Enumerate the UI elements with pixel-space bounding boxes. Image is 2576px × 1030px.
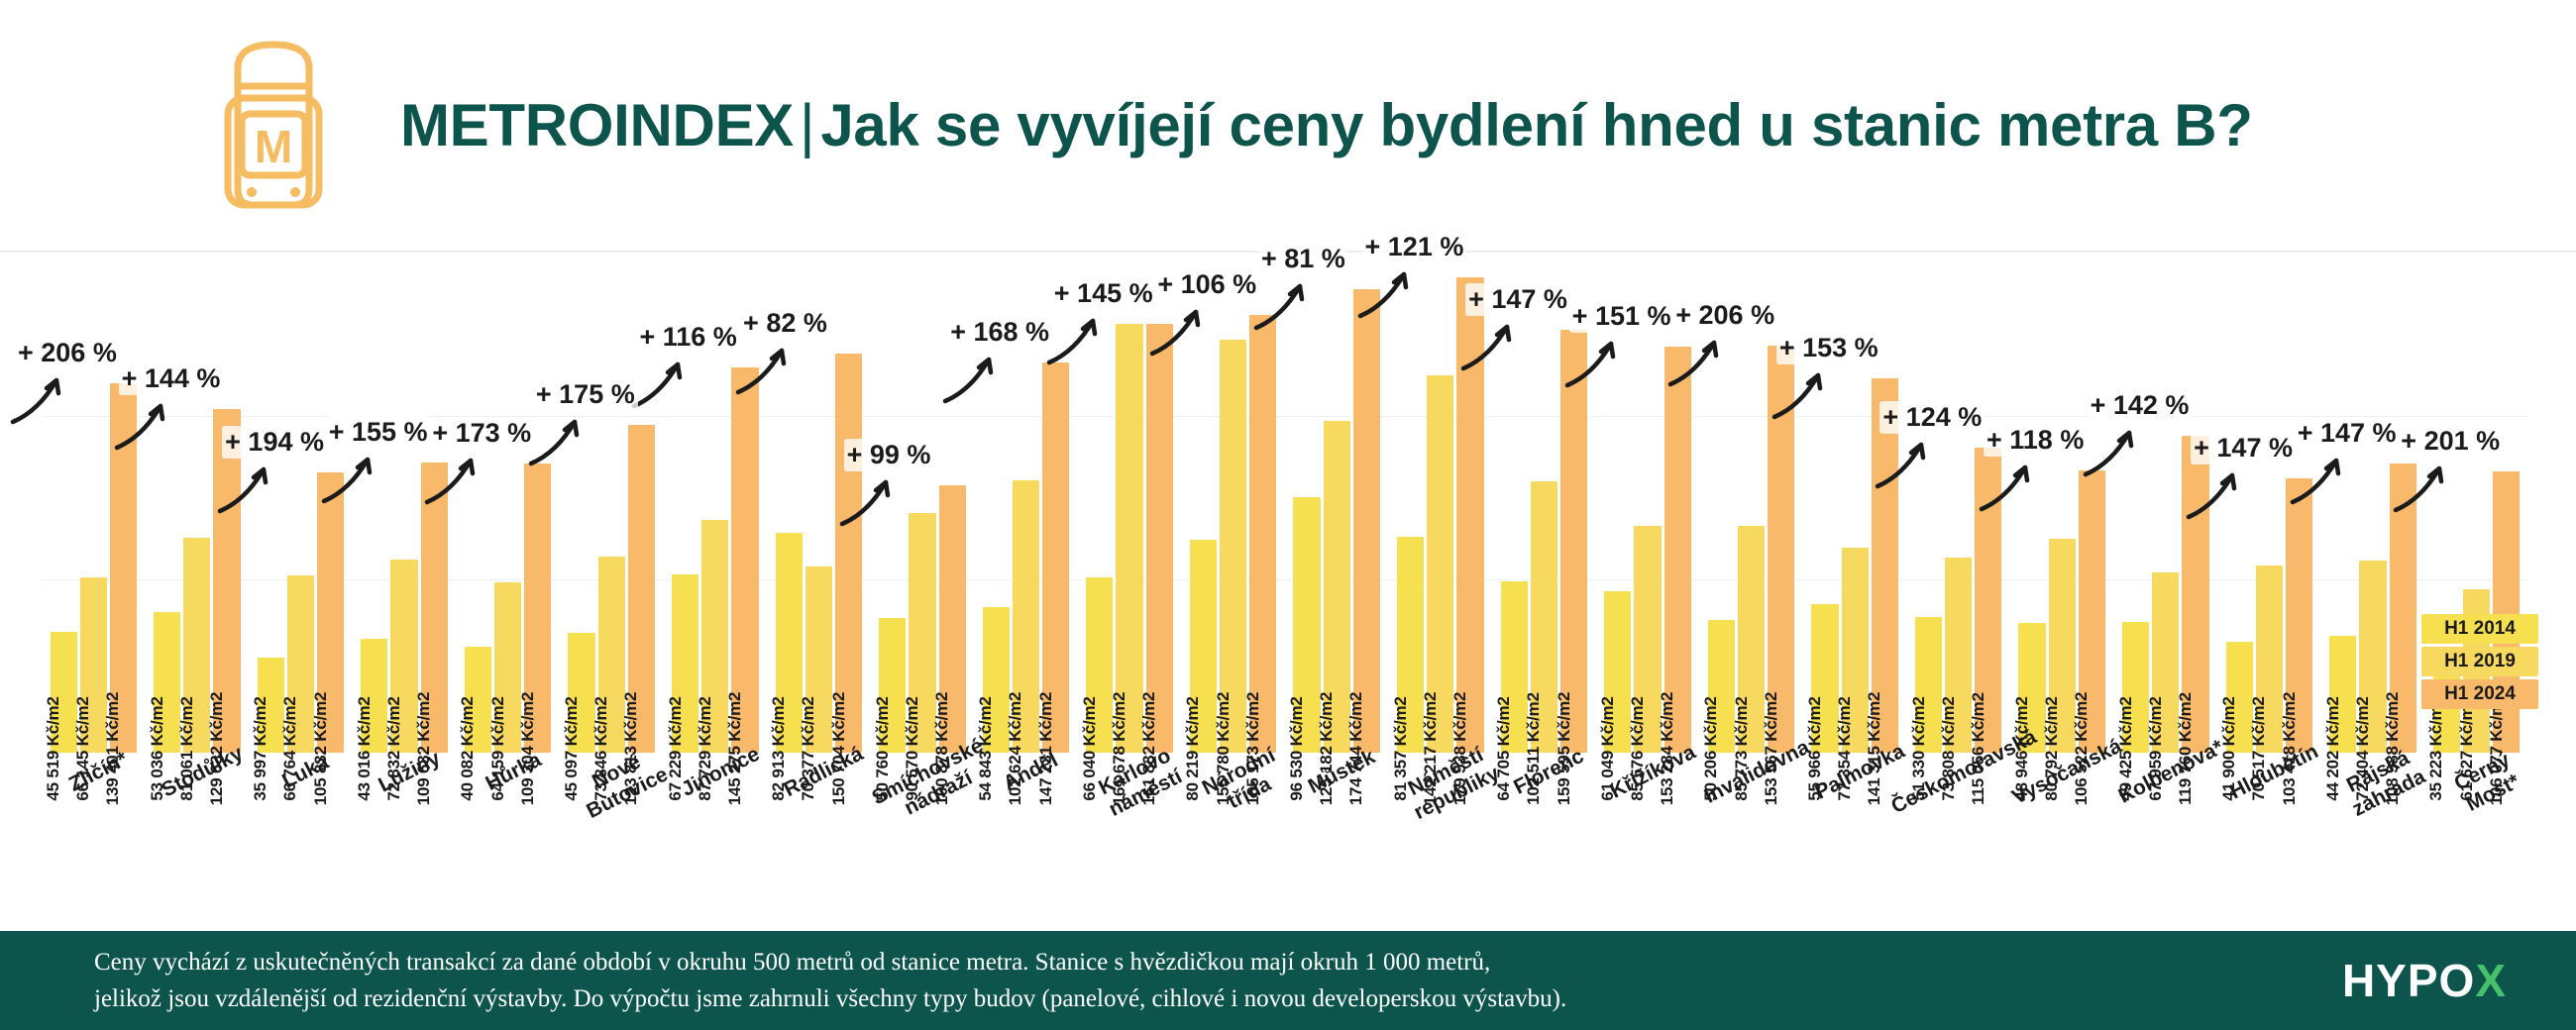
x-axis-tick: Luka bbox=[256, 756, 346, 924]
growth-annotation: + 99 % bbox=[844, 439, 934, 471]
bar-h1-2024: 145 275 Kč/m2 bbox=[731, 367, 758, 753]
bar-h1-2024: 105 832 Kč/m2 bbox=[317, 472, 344, 753]
station-label: Florenc bbox=[1511, 745, 1589, 800]
growth-annotation: + 194 % bbox=[222, 426, 327, 459]
logo-main-text: HYPO bbox=[2342, 955, 2475, 1006]
bar-h1-2024: 123 813 Kč/m2 bbox=[628, 425, 655, 753]
metro-train-icon: M bbox=[208, 39, 339, 212]
growth-annotation: + 147 % bbox=[1465, 283, 1570, 316]
growth-annotation: + 116 % bbox=[636, 321, 739, 354]
chart-x-axis: Zličín*StodůlkyLukaLužinyHůrkaNovéButovi… bbox=[42, 756, 2528, 924]
bar-h1-2024: 119 760 Kč/m2 bbox=[2182, 436, 2208, 753]
station-label: Karlovonáměstí bbox=[1095, 744, 1187, 822]
x-axis-tick: Radlická bbox=[774, 756, 864, 924]
page-title: METROINDEX|Jak se vyvíjejí ceny bydlení … bbox=[400, 91, 2253, 159]
growth-annotation: + 173 % bbox=[429, 417, 534, 450]
growth-annotation: + 118 % bbox=[1984, 424, 2087, 457]
bar-h1-2014: 40 082 Kč/m2 bbox=[465, 647, 491, 753]
bar-h1-2024: 165 173 Kč/m2 bbox=[1249, 315, 1276, 753]
bar-group: 35 997 Kč/m266 764 Kč/m2105 832 Kč/m2+ 1… bbox=[256, 262, 346, 753]
growth-annotation: + 145 % bbox=[1051, 277, 1156, 310]
bar-group: 64 705 Kč/m2102 511 Kč/m2159 595 Kč/m2+ … bbox=[1499, 262, 1589, 753]
bar-h1-2024: 108 988 Kč/m2 bbox=[2390, 463, 2416, 753]
bar-group: 51 330 Kč/m273 808 Kč/m2115 056 Kč/m2+ 1… bbox=[1913, 262, 2003, 753]
station-label: Rajskázahrada bbox=[2338, 744, 2430, 822]
title-separator: | bbox=[794, 92, 820, 158]
bar-group: 43 016 Kč/m272 832 Kč/m2109 632 Kč/m2+ 1… bbox=[360, 262, 450, 753]
bar-h1-2024: 109 632 Kč/m2 bbox=[421, 463, 448, 753]
x-axis-tick: Anděl bbox=[981, 756, 1071, 924]
hypox-logo: HYPOX bbox=[2342, 954, 2507, 1007]
bar-group: 49 425 Kč/m267 959 Kč/m2119 760 Kč/m2+ 1… bbox=[2121, 262, 2211, 753]
bar-group: 54 843 Kč/m2102 624 Kč/m2147 231 Kč/m2+ … bbox=[981, 262, 1071, 753]
chart-legend: H1 2014H1 2019H1 2024 bbox=[2421, 614, 2538, 712]
footnote-line-2: jelikož jsou vzdálenější od rezidenční v… bbox=[94, 980, 1566, 1018]
x-axis-tick: Kolbenova* bbox=[2121, 756, 2211, 924]
station-label: Národnítřída bbox=[1198, 744, 1290, 822]
legend-item-h1-2019[interactable]: H1 2019 bbox=[2421, 647, 2538, 676]
growth-annotation: + 147 % bbox=[2295, 417, 2400, 450]
growth-annotation: + 155 % bbox=[326, 416, 431, 449]
station-label: Anděl bbox=[1000, 749, 1062, 796]
x-axis-tick: Smíchovskénádraží bbox=[878, 756, 968, 924]
page-footer: Ceny vychází z uskutečněných transakcí z… bbox=[0, 931, 2576, 1030]
x-axis-tick: Stodůlky bbox=[153, 756, 243, 924]
x-axis-tick: Florenc bbox=[1499, 756, 1589, 924]
bar-h1-2019: 155 780 Kč/m2 bbox=[1220, 340, 1246, 753]
x-axis-tick: Křižíkova bbox=[1603, 756, 1693, 924]
bar-chart: 45 519 Kč/m266 145 Kč/m2139 401 Kč/m2+ 2… bbox=[0, 253, 2576, 931]
footnote: Ceny vychází z uskutečněných transakcí z… bbox=[94, 944, 1566, 1018]
bar-h1-2019: 70 377 Kč/m2 bbox=[805, 566, 832, 753]
growth-annotation: + 142 % bbox=[2088, 389, 2193, 422]
growth-annotation: + 168 % bbox=[947, 316, 1052, 349]
bar-h1-2019: 161 678 Kč/m2 bbox=[1116, 324, 1142, 753]
x-axis-tick: Můstek bbox=[1292, 756, 1382, 924]
title-subtitle: Jak se vyvíjejí ceny bydlení hned u stan… bbox=[820, 92, 2252, 158]
bar-h1-2019: 102 624 Kč/m2 bbox=[1013, 480, 1039, 753]
bar-group: 82 913 Kč/m270 377 Kč/m2150 704 Kč/m2+ 8… bbox=[774, 262, 864, 753]
footnote-line-1: Ceny vychází z uskutečněných transakcí z… bbox=[94, 944, 1566, 981]
bar-h1-2024: 147 231 Kč/m2 bbox=[1042, 362, 1069, 753]
x-axis-tick: Hůrka bbox=[463, 756, 553, 924]
bar-h1-2024: 106 522 Kč/m2 bbox=[2079, 470, 2105, 753]
growth-annotation: + 201 % bbox=[2398, 425, 2503, 458]
x-axis-tick: Národnítřída bbox=[1188, 756, 1278, 924]
bar-h1-2024: 100 878 Kč/m2 bbox=[939, 485, 966, 753]
brand-name: METROINDEX bbox=[400, 92, 794, 158]
x-axis-tick: Rajskázahrada bbox=[2328, 756, 2418, 924]
x-axis-tick: ČernýMost* bbox=[2431, 756, 2522, 924]
growth-annotation: + 147 % bbox=[2191, 432, 2296, 464]
bar-h1-2024: 129 632 Kč/m2 bbox=[213, 409, 240, 753]
growth-annotation: + 206 % bbox=[1672, 299, 1777, 332]
bar-h1-2024: 115 056 Kč/m2 bbox=[1975, 448, 2001, 753]
growth-annotation: + 153 % bbox=[1776, 332, 1881, 364]
x-axis-tick: Invalidovna bbox=[1706, 756, 1796, 924]
bar-h1-2024: 179 538 Kč/m2 bbox=[1456, 277, 1483, 753]
bar-h1-2024: 103 418 Kč/m2 bbox=[2286, 478, 2312, 753]
growth-annotation: + 121 % bbox=[1362, 231, 1467, 263]
bar-h1-2019: 66 764 Kč/m2 bbox=[287, 575, 314, 753]
x-axis-tick: Jinonice bbox=[670, 756, 760, 924]
x-axis-tick: Hloubětín bbox=[2224, 756, 2314, 924]
bar-group: 45 519 Kč/m266 145 Kč/m2139 401 Kč/m2+ 2… bbox=[49, 262, 139, 753]
bar-group: 81 357 Kč/m2142 217 Kč/m2179 538 Kč/m2+ … bbox=[1396, 262, 1486, 753]
growth-annotation: + 124 % bbox=[1879, 401, 1985, 434]
bar-group: 44 202 Kč/m272 404 Kč/m2108 988 Kč/m2+ 1… bbox=[2328, 262, 2418, 753]
growth-arrow-icon bbox=[9, 366, 82, 431]
bar-group: 66 040 Kč/m2161 678 Kč/m2161 832 Kč/m2+ … bbox=[1085, 262, 1175, 753]
bar-group: 53 036 Kč/m281 061 Kč/m2129 632 Kč/m2+ 1… bbox=[153, 262, 243, 753]
station-label: Hůrka bbox=[482, 748, 545, 796]
bar-group: 61 049 Kč/m285 576 Kč/m2153 284 Kč/m2+ 1… bbox=[1603, 262, 1693, 753]
bar-h1-2024: 150 704 Kč/m2 bbox=[835, 354, 862, 753]
station-label: Zličín* bbox=[65, 748, 132, 797]
bar-h1-2019: 102 511 Kč/m2 bbox=[1531, 481, 1557, 753]
x-axis-tick: Lužiny bbox=[360, 756, 450, 924]
bar-group: 48 946 Kč/m280 792 Kč/m2106 522 Kč/m2+ 1… bbox=[2017, 262, 2107, 753]
bar-group: 96 530 Kč/m2125 182 Kč/m2174 744 Kč/m2+ … bbox=[1292, 262, 1382, 753]
legend-item-h1-2024[interactable]: H1 2024 bbox=[2421, 679, 2538, 709]
bar-group: 80 219 Kč/m2155 780 Kč/m2165 173 Kč/m2+ … bbox=[1188, 262, 1278, 753]
bar-h1-2024: 109 304 Kč/m2 bbox=[524, 463, 551, 753]
growth-annotation: + 81 % bbox=[1258, 243, 1348, 275]
x-axis-tick: Náměstírepubliky bbox=[1396, 756, 1486, 924]
growth-annotation: + 106 % bbox=[1154, 268, 1259, 301]
svg-text:M: M bbox=[255, 121, 292, 172]
growth-annotation: + 206 % bbox=[15, 337, 120, 369]
bar-h1-2024: 159 595 Kč/m2 bbox=[1560, 330, 1587, 753]
growth-annotation: + 144 % bbox=[119, 362, 224, 395]
legend-item-h1-2014[interactable]: H1 2014 bbox=[2421, 614, 2538, 644]
bar-group: 41 900 Kč/m270 517 Kč/m2103 418 Kč/m2+ 1… bbox=[2224, 262, 2314, 753]
page-header: M METROINDEX|Jak se vyvíjejí ceny bydlen… bbox=[0, 0, 2576, 253]
bar-h1-2024: 153 567 Kč/m2 bbox=[1768, 346, 1794, 753]
x-axis-tick: Zličín* bbox=[49, 756, 139, 924]
x-axis-tick: Českomoravská bbox=[1913, 756, 2003, 924]
chart-plot-area: 45 519 Kč/m266 145 Kč/m2139 401 Kč/m2+ 2… bbox=[42, 262, 2528, 753]
growth-annotation: + 151 % bbox=[1569, 300, 1674, 333]
logo-accent-text: X bbox=[2475, 955, 2507, 1006]
bar-h1-2024: 161 832 Kč/m2 bbox=[1146, 324, 1173, 753]
bar-h1-2014: 50 206 Kč/m2 bbox=[1708, 620, 1735, 753]
bar-h1-2024: 153 284 Kč/m2 bbox=[1664, 347, 1691, 753]
x-axis-tick: NovéButovice bbox=[567, 756, 657, 924]
station-label: ČernýMost* bbox=[2450, 748, 2524, 817]
bar-group: 40 082 Kč/m264 159 Kč/m2109 304 Kč/m2+ 1… bbox=[463, 262, 553, 753]
x-axis-tick: Palmovka bbox=[1810, 756, 1900, 924]
bar-group: 55 966 Kč/m277 354 Kč/m2141 315 Kč/m2+ 1… bbox=[1810, 262, 1900, 753]
bar-h1-2024: 174 744 Kč/m2 bbox=[1353, 289, 1380, 753]
bar-h1-2024: 139 401 Kč/m2 bbox=[110, 383, 137, 753]
station-label: Luka bbox=[279, 751, 334, 794]
x-axis-tick: Karlovonáměstí bbox=[1085, 756, 1175, 924]
bar-h1-2019: 70 517 Kč/m2 bbox=[2256, 566, 2283, 753]
growth-annotation: + 82 % bbox=[740, 307, 830, 340]
bar-h1-2024: 141 315 Kč/m2 bbox=[1872, 378, 1898, 753]
growth-annotation: + 175 % bbox=[533, 378, 638, 411]
x-axis-tick: Vysočanská bbox=[2017, 756, 2107, 924]
bar-h1-2014: 80 219 Kč/m2 bbox=[1190, 540, 1217, 753]
